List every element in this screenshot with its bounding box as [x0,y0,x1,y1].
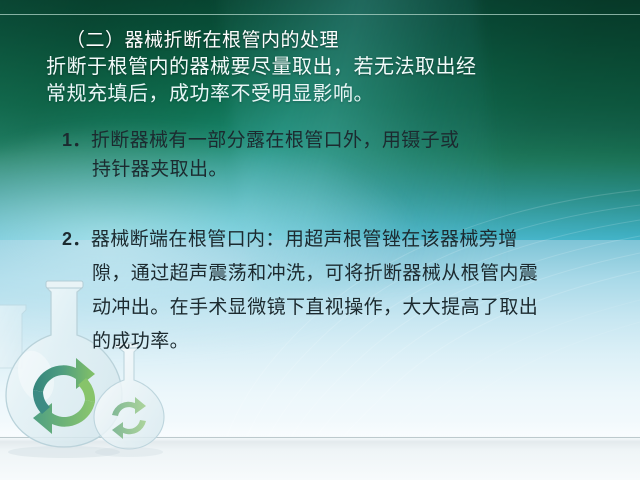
list-item-wrap-line: 隙，通过超声震荡和冲洗，可将折断器械从根管内震 [62,257,640,291]
heading-body-line-2: 常规充填后，成功率不受明显影响。 [46,81,630,108]
list-item-text: 折断器械有一部分露在根管口外，用镊子或 [91,130,460,151]
list-item-number: 1． [62,130,91,150]
list-item-wrap-line: 持针器夹取出。 [62,155,640,184]
heading-block: （二）器械折断在根管内的处理 折断于根管内的器械要尽量取出，若无法取出经 常规充… [46,28,630,108]
list-item: 1．折断器械有一部分露在根管口外，用镊子或 持针器夹取出。 [62,126,640,184]
list-item-first-line: 2．器械断端在根管口内：用超声根管锉在该器械旁增 [62,222,640,257]
presentation-slide: （二）器械折断在根管内的处理 折断于根管内的器械要尽量取出，若无法取出经 常规充… [0,0,640,480]
list-item: 2．器械断端在根管口内：用超声根管锉在该器械旁增 隙，通过超声震荡和冲洗，可将折… [62,222,640,359]
list-item-wrap-line: 动冲出。在手术显微镜下直视操作，大大提高了取出 [62,291,640,325]
list-item-number: 2． [62,229,91,249]
page-title: （二）器械折断在根管内的处理 [46,28,630,54]
list-item-first-line: 1．折断器械有一部分露在根管口外，用镊子或 [62,126,640,155]
heading-body-line-1: 折断于根管内的器械要尽量取出，若无法取出经 [46,54,630,81]
list-item-text: 器械断端在根管口内：用超声根管锉在该器械旁增 [91,229,518,250]
list-item-wrap-line: 的成功率。 [62,325,640,359]
slide-content: （二）器械折断在根管内的处理 折断于根管内的器械要尽量取出，若无法取出经 常规充… [0,0,640,480]
